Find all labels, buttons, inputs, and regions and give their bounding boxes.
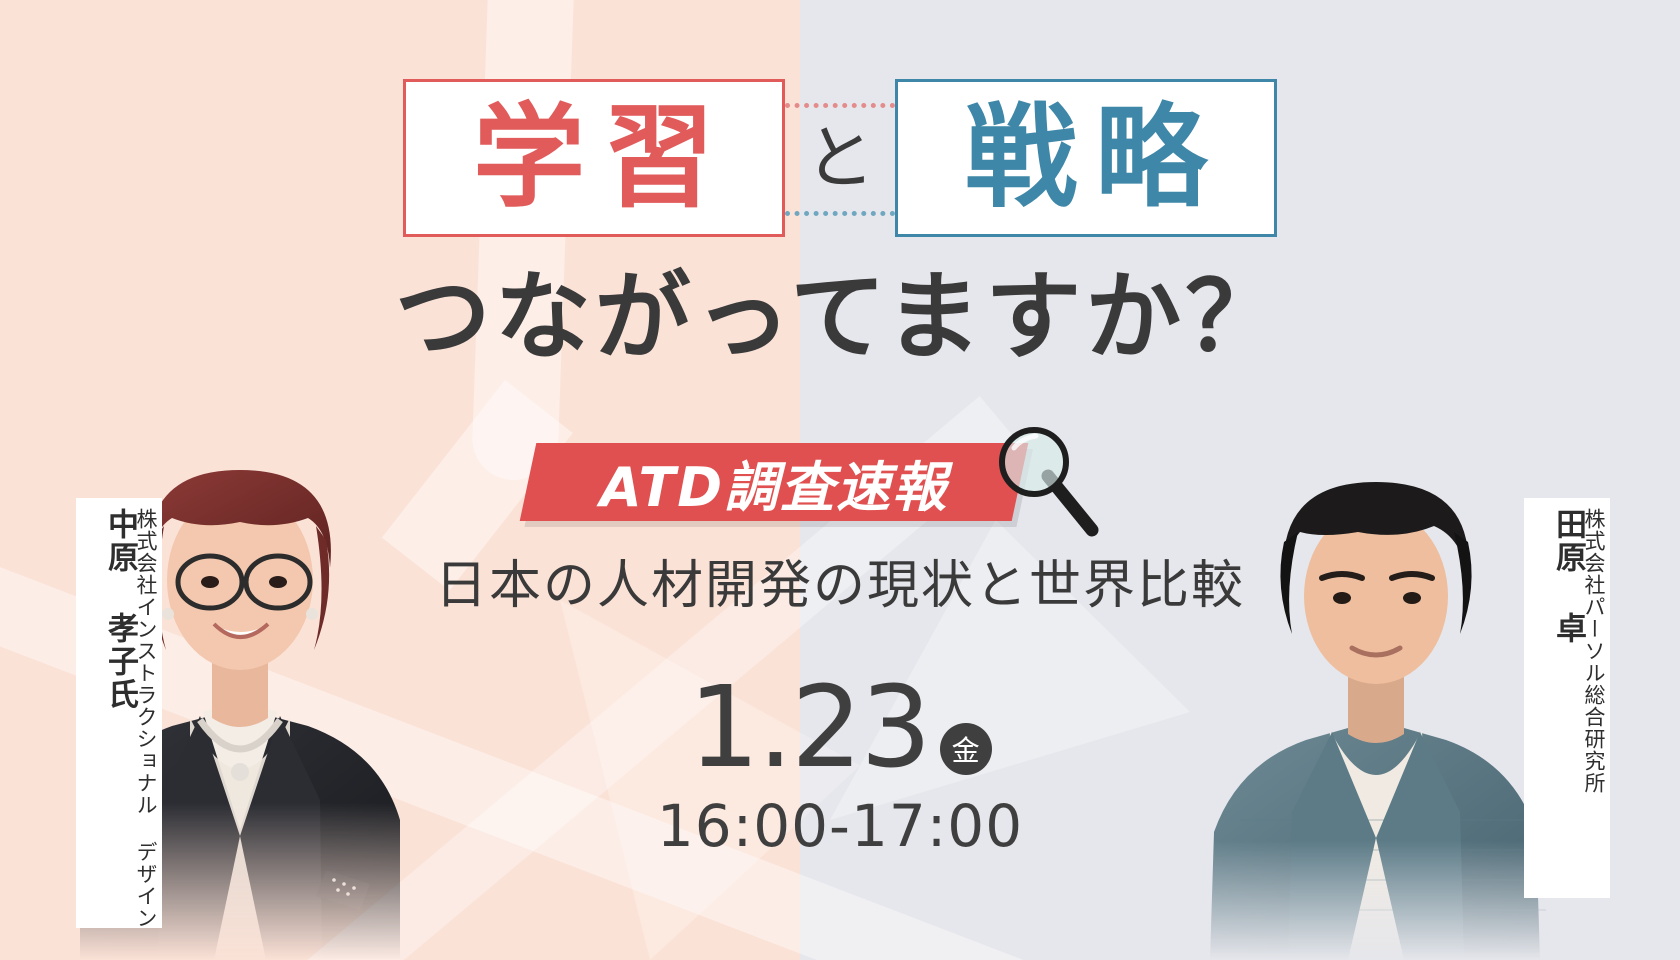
event-time: 16:00-17:00 bbox=[540, 792, 1140, 860]
speaker-left-organization: 株式会社インストラクショナル デザイン bbox=[135, 508, 156, 929]
headline-word-strategy: 戦略 bbox=[947, 102, 1225, 214]
headline-word-learning-box: 学習 bbox=[403, 79, 785, 237]
webinar-banner: 学習 と 戦略 つながってますか？ ATD調査速報 日本の人材開発の現状と世界比… bbox=[0, 0, 1680, 960]
magnifier-icon bbox=[988, 418, 1108, 538]
date-line: 1.23 金 bbox=[540, 672, 1140, 784]
speaker-right-organization: 株式会社パーソル総合研究所 bbox=[1583, 508, 1604, 794]
speaker-left-name: 中原 孝子氏 bbox=[104, 508, 135, 711]
headline-word-strategy-box: 戦略 bbox=[895, 79, 1277, 237]
dotted-line-bottom bbox=[785, 211, 895, 216]
schedule-block: 1.23 金 16:00-17:00 bbox=[540, 672, 1140, 860]
headline-question: つながってますか？ bbox=[0, 262, 1680, 372]
speaker-card-left: 株式会社インストラクショナル デザイン 中原 孝子氏 bbox=[76, 498, 162, 928]
atd-badge-label: ATD調査速報 bbox=[528, 443, 1020, 521]
speaker-card-right: 株式会社パーソル総合研究所 田原 卓 bbox=[1524, 498, 1610, 898]
headline-conjunction: と bbox=[805, 123, 875, 193]
headline-conjunction-wrap: と bbox=[785, 79, 895, 237]
dotted-line-top bbox=[785, 103, 895, 108]
headline-row: 学習 と 戦略 bbox=[0, 78, 1680, 238]
headline-word-learning: 学習 bbox=[455, 102, 733, 214]
day-of-week-badge: 金 bbox=[940, 723, 992, 775]
event-date: 1.23 bbox=[688, 672, 929, 784]
speaker-right-name: 田原 卓 bbox=[1552, 508, 1583, 645]
subtitle: 日本の人材開発の現状と世界比較 bbox=[0, 543, 1680, 618]
speaker-photo-right bbox=[1180, 420, 1580, 960]
